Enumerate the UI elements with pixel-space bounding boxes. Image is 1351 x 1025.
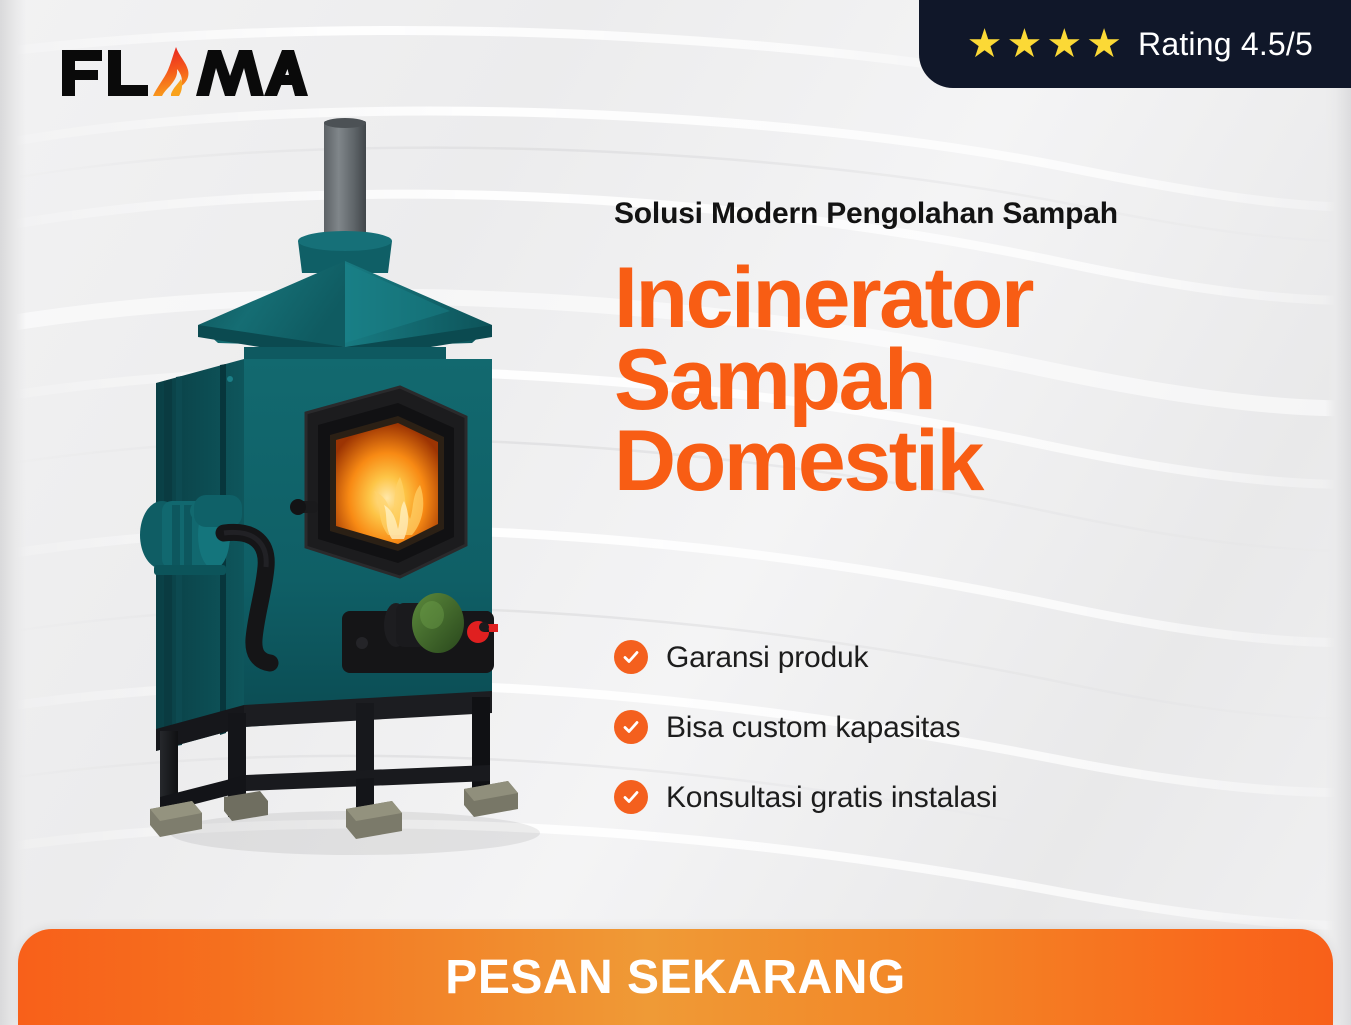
feature-list: Garansi produk Bisa custom kapasitas Kon… — [614, 640, 1234, 850]
promo-poster: ★ ★ ★ ★ Rating 4.5/5 — [0, 0, 1351, 1025]
roof-collar-top — [298, 231, 392, 251]
panel-bolt — [227, 376, 233, 382]
headline-block: Solusi Modern Pengolahan Sampah Incinera… — [614, 196, 1314, 503]
chimney-top — [324, 118, 366, 128]
order-now-button[interactable]: PESAN SEKARANG — [18, 929, 1333, 1025]
door-handle-pivot — [290, 499, 306, 515]
rating-stars: ★ ★ ★ ★ — [967, 24, 1122, 64]
incinerator-svg — [120, 115, 590, 860]
star-icon: ★ — [1086, 24, 1122, 64]
feature-label: Garansi produk — [666, 641, 868, 674]
list-item: Garansi produk — [614, 640, 1234, 674]
chimney-pipe — [324, 121, 366, 241]
list-item: Konsultasi gratis instalasi — [614, 780, 1234, 814]
rating-badge: ★ ★ ★ ★ Rating 4.5/5 — [919, 0, 1351, 88]
headline-line-1: Incinerator — [614, 258, 1314, 340]
star-icon: ★ — [1006, 24, 1042, 64]
check-circle-icon — [614, 710, 648, 744]
eyebrow-text: Solusi Modern Pengolahan Sampah — [614, 196, 1314, 232]
feature-label: Konsultasi gratis instalasi — [666, 781, 997, 814]
list-item: Bisa custom kapasitas — [614, 710, 1234, 744]
star-icon: ★ — [967, 24, 1003, 64]
headline-line-3: Domestik — [614, 421, 1314, 503]
product-image-incinerator — [120, 115, 590, 860]
background-left-edge-shade — [0, 0, 26, 1025]
flama-logo[interactable] — [58, 42, 308, 104]
page-title: Incinerator Sampah Domestik — [614, 258, 1314, 503]
flama-logo-svg — [58, 42, 308, 104]
flame-icon — [153, 47, 188, 96]
feature-label: Bisa custom kapasitas — [666, 711, 960, 744]
background-right-edge-shade — [1325, 0, 1351, 1025]
star-icon: ★ — [1046, 24, 1082, 64]
check-circle-icon — [614, 640, 648, 674]
check-circle-icon — [614, 780, 648, 814]
cta-label: PESAN SEKARANG — [445, 950, 905, 1005]
rating-label: Rating 4.5/5 — [1138, 26, 1313, 63]
headline-line-2: Sampah — [614, 340, 1314, 422]
